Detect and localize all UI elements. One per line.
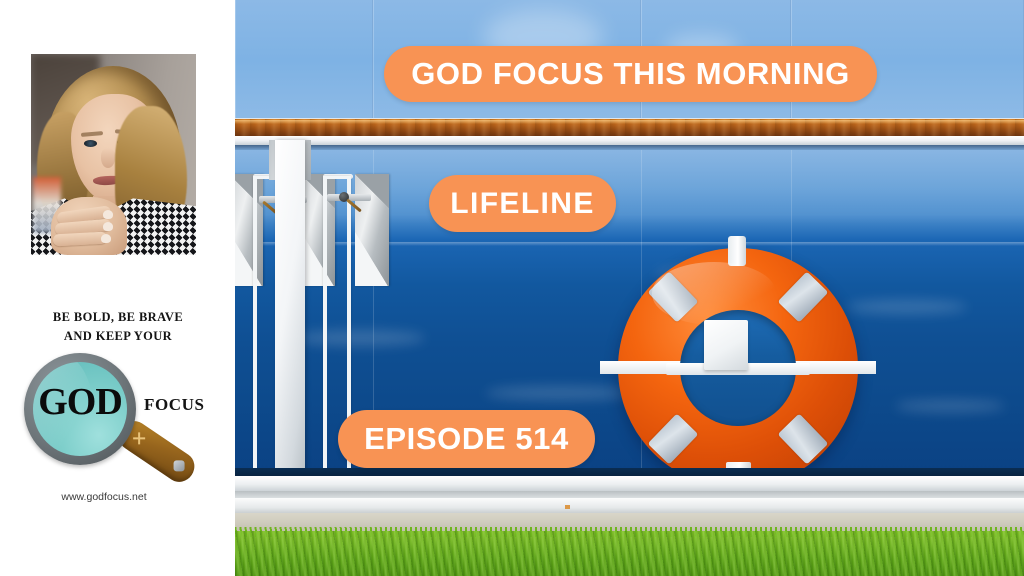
horizon-line [235, 242, 1024, 246]
portrait-nose [101, 148, 115, 168]
logo-tagline-line-1: BE BOLD, BE BRAVE [33, 308, 203, 327]
host-portrait-photo [31, 54, 196, 255]
cross-icon [133, 432, 145, 444]
topic-label: LIFELINE [429, 175, 616, 232]
grass-foreground [235, 531, 1024, 576]
logo-word-focus: FOCUS [144, 395, 205, 415]
portrait-fingernail [103, 222, 113, 231]
title-label: GOD FOCUS THIS MORNING [384, 46, 877, 102]
life-ring-gloss [652, 262, 777, 324]
godfocus-logo: BE BOLD, BE BRAVE AND KEEP YOUR GOD FOCU… [18, 308, 218, 493]
handrail-highlight [235, 120, 1024, 124]
life-ring-top-strap [728, 236, 746, 266]
life-ring-name-plate [704, 320, 748, 370]
wave-highlight [485, 386, 635, 400]
logo-tagline-line-2: AND KEEP YOUR [33, 327, 203, 346]
wave-highlight [295, 330, 425, 346]
thumbnail-canvas: BE BOLD, BE BRAVE AND KEEP YOUR GOD FOCU… [0, 0, 1024, 576]
wave-highlight [895, 400, 1005, 412]
logo-tagline: BE BOLD, BE BRAVE AND KEEP YOUR [33, 308, 203, 347]
logo-website-url: www.godfocus.net [18, 491, 190, 503]
portrait-eye-left [84, 140, 97, 147]
rail-bracket [355, 174, 389, 286]
glass-pane [235, 0, 373, 126]
portrait-fingernail [101, 234, 111, 243]
logo-word-god: GOD [24, 383, 136, 421]
deck-band [235, 498, 1024, 514]
portrait-fingernail [103, 210, 113, 219]
wave-highlight [847, 300, 967, 314]
stanchion-post [275, 140, 305, 520]
glass-reflection-band [235, 150, 1024, 224]
life-ring [618, 248, 858, 488]
magnifying-glass-icon: GOD FOCUS www.godfocus.net [18, 351, 218, 471]
left-branding-panel: BE BOLD, BE BRAVE AND KEEP YOUR GOD FOCU… [0, 0, 235, 576]
episode-label: EPISODE 514 [338, 410, 595, 468]
deck-band [235, 476, 1024, 491]
grass-blades [235, 531, 1024, 576]
handle-stud [174, 460, 185, 471]
deck-marker [565, 505, 570, 509]
white-rail-bar [235, 136, 1024, 145]
